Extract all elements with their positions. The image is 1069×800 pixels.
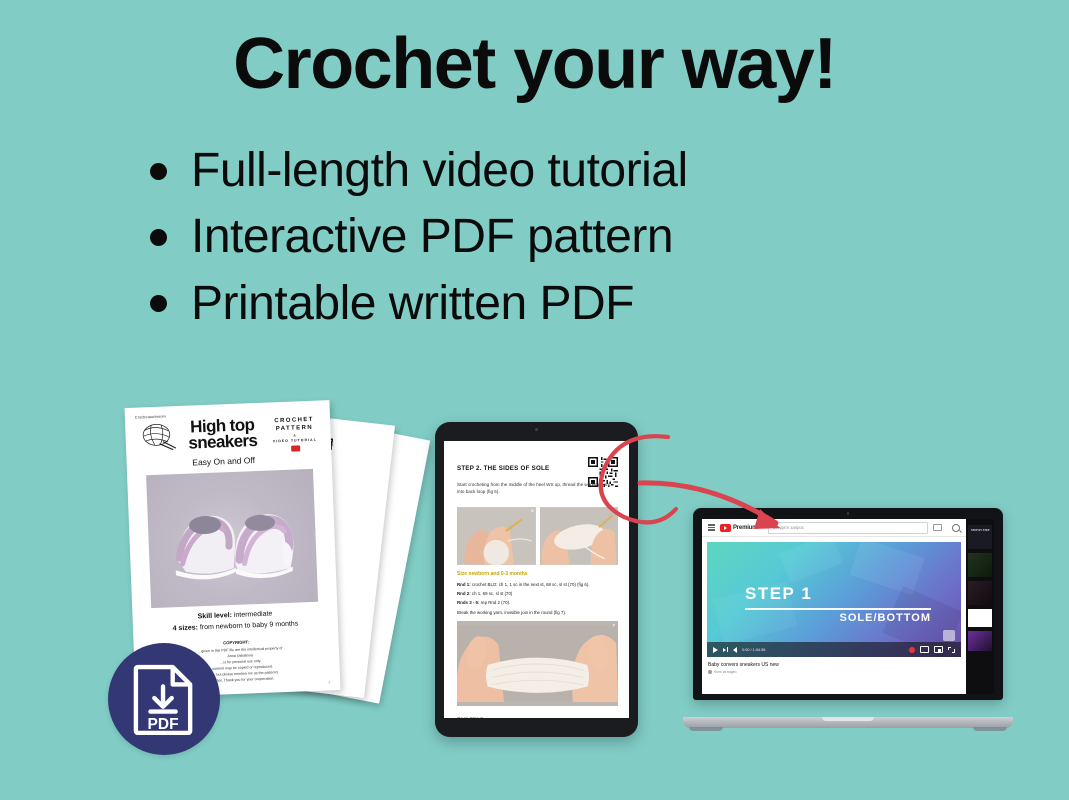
youtube-main-column: Premium RU Введите запрос (702, 519, 966, 694)
yarn-ball-logo-icon (137, 417, 180, 453)
tablet-footer-link[interactable]: Go to Step 3. (457, 716, 484, 718)
sizes-value: from newborn to baby 9 months (200, 621, 299, 632)
page-title: Crochet your way! (0, 28, 1069, 100)
tablet-device: STEP 2. THE SIDES OF SOLE Start crocheti… (435, 422, 638, 737)
tablet-round-1: Rnd 1: crochet BLO: ch 1, 1 sc in the ne… (457, 582, 618, 589)
pattern-subtitle: Easy On and Off (182, 455, 264, 468)
recommendations-sidebar[interactable]: STEP BY STEP (966, 519, 994, 694)
pdf-badge-label: PDF (148, 716, 179, 733)
video-overlay-rule (745, 608, 931, 610)
list-item[interactable] (968, 631, 992, 651)
tablet-round-3: Rnds 3 - 5: rep Rnd 2 (70). (457, 600, 618, 607)
hamburger-menu-icon[interactable] (708, 524, 715, 530)
laptop-lid: Premium RU Введите запрос (693, 508, 1003, 700)
list-item[interactable] (968, 581, 992, 605)
bullet-dot-icon (150, 295, 167, 312)
search-icon[interactable] (952, 524, 960, 532)
tablet-figure-5: 5 (457, 507, 536, 565)
tablet-figure-6: 6 (540, 507, 619, 565)
tablet-size-heading: Size newborn and 0-3 months (457, 571, 528, 577)
pattern-badge-line1: CROCHET PATTERN (265, 416, 324, 433)
sidebar-thumb-label: STEP BY STEP (971, 529, 990, 533)
avatar (708, 670, 712, 674)
video-title[interactable]: Baby convers sneakers US new (708, 662, 960, 668)
play-icon[interactable] (713, 647, 718, 653)
skill-level-label: Skill level: (198, 612, 232, 620)
document-download-icon: PDF (133, 663, 195, 735)
feature-list: Full-length video tutorial Interactive P… (150, 146, 688, 345)
list-item[interactable] (968, 609, 992, 627)
youtube-logo[interactable]: Premium RU (720, 524, 763, 532)
tablet-break-line: Break the working yarn, invisible join i… (457, 610, 618, 617)
laptop-screen[interactable]: Premium RU Введите запрос (702, 519, 994, 694)
next-icon[interactable] (723, 647, 728, 652)
settings-icon[interactable] (920, 646, 929, 654)
tablet-main-figure-badge: 7 (612, 623, 615, 628)
tablet-figure-row: 5 6 (457, 507, 618, 565)
video-controls-right (909, 646, 955, 654)
laptop-base (683, 717, 1013, 728)
pattern-badge: CROCHET PATTERN & VIDEO TUTORIAL (265, 416, 324, 452)
tablet-figure-badge-5: 5 (531, 508, 533, 513)
tablet-round-1-label: Rnd 1: (457, 582, 471, 587)
channel-name: Фото из видео (714, 670, 737, 674)
bullet-dot-icon (150, 229, 167, 246)
fullscreen-icon[interactable] (948, 647, 955, 653)
laptop-camera-icon (847, 512, 850, 515)
video-player[interactable]: STEP 1 SOLE/BOTTOM 0:00 / 1:04:36 (707, 542, 961, 657)
tablet-round-2-label: Rnd 2: (457, 591, 471, 596)
tablet-step-heading: STEP 2. THE SIDES OF SOLE (457, 465, 549, 472)
list-item-label: Interactive PDF pattern (191, 212, 673, 262)
pattern-title: High top sneakers (181, 417, 264, 452)
tablet-round-1-text: crochet BLO: ch 1, 1 sc in the next st, … (471, 582, 590, 587)
youtube-logo-text: Premium (733, 525, 757, 531)
laptop-foot-left (689, 727, 723, 731)
pattern-badge-line2: VIDEO TUTORIAL (266, 437, 324, 443)
page-number: 1 (328, 680, 330, 684)
laptop-foot-right (973, 727, 1007, 731)
captions-icon[interactable] (909, 647, 915, 653)
list-item-label: Printable written PDF (191, 279, 634, 329)
volume-icon[interactable] (733, 647, 737, 653)
video-overlay-part: SOLE/BOTTOM (840, 612, 931, 624)
tablet-round-2-text: ch 1, 69 sc, sl st (70) (471, 591, 513, 596)
youtube-mark-icon (291, 445, 300, 451)
skill-level-value: intermediate (234, 611, 273, 619)
laptop-base-notch (822, 717, 874, 721)
poster-canvas: Crochet your way! Full-length video tuto… (0, 0, 1069, 800)
cover-photo (146, 469, 318, 608)
tablet-intro-text: Start crocheting from the middle of the … (457, 481, 617, 495)
keyboard-icon[interactable] (933, 524, 942, 531)
list-item: Full-length video tutorial (150, 146, 688, 196)
youtube-header: Premium RU Введите запрос (702, 519, 966, 537)
list-item: Interactive PDF pattern (150, 212, 688, 262)
pdf-download-badge[interactable]: PDF (108, 643, 220, 755)
search-placeholder: Введите запрос (773, 525, 804, 530)
video-overlay-step: STEP 1 (745, 584, 812, 604)
laptop-device: Premium RU Введите запрос (683, 508, 1013, 728)
video-time: 0:00 / 1:04:36 (742, 648, 765, 652)
list-item[interactable] (968, 553, 992, 577)
sizes-label: 4 sizes: (173, 624, 199, 632)
list-item[interactable]: STEP BY STEP (968, 525, 992, 549)
channel-watermark-icon[interactable] (943, 630, 955, 641)
tablet-round-3-text: rep Rnd 2 (70). (479, 600, 510, 605)
youtube-premium-mark: RU (758, 524, 762, 528)
video-controls[interactable]: 0:00 / 1:04:36 (707, 642, 961, 657)
list-item: Printable written PDF (150, 279, 688, 329)
tablet-round-2: Rnd 2: ch 1, 69 sc, sl st (70) (457, 591, 618, 598)
channel-row[interactable]: Фото из видео (708, 670, 960, 674)
miniplayer-icon[interactable] (934, 646, 943, 654)
list-item-label: Full-length video tutorial (191, 146, 688, 196)
tablet-screen[interactable]: STEP 2. THE SIDES OF SOLE Start crocheti… (444, 441, 629, 718)
tablet-camera-icon (535, 428, 538, 431)
tablet-main-figure: 7 (457, 621, 618, 706)
youtube-play-icon (720, 524, 731, 532)
bullet-dot-icon (150, 163, 167, 180)
tablet-round-3-label: Rnds 3 - 5: (457, 600, 479, 605)
search-input[interactable]: Введите запрос (768, 522, 928, 534)
tablet-figure-badge-6: 6 (614, 508, 616, 513)
